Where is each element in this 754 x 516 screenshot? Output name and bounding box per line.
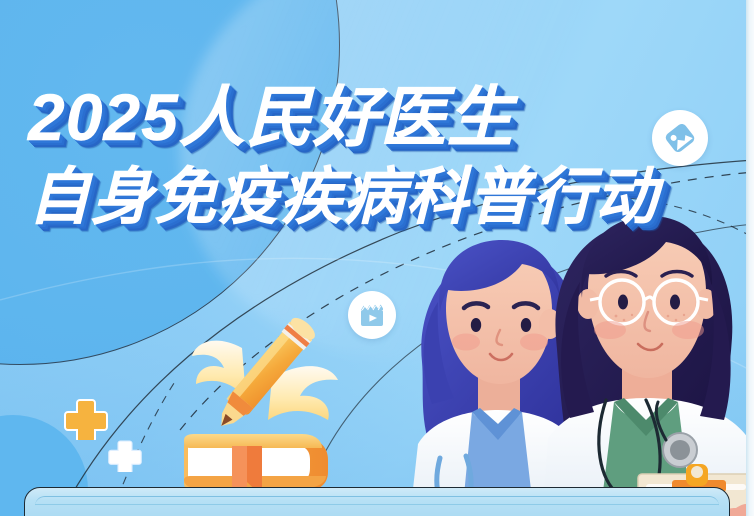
image-icon [663, 121, 697, 155]
pencil-book-illustration [150, 300, 360, 516]
plus-decor-white [108, 438, 142, 472]
doctor-glasses [542, 216, 754, 516]
video-clapperboard-icon [357, 300, 387, 330]
bottom-panel [24, 487, 730, 516]
bottom-panel-line-2 [35, 504, 719, 516]
photo-badge[interactable] [652, 110, 708, 166]
plus-icon [64, 396, 108, 440]
title-line-2: 自身免疫疾病科普行动 [28, 166, 658, 230]
plus-icon [108, 438, 142, 472]
doctor-illustration [410, 212, 754, 516]
poster-title: 2025人民好医生 自身免疫疾病科普行动 [28, 84, 658, 230]
video-badge[interactable] [348, 291, 396, 339]
title-line-1: 2025人民好医生 [28, 84, 658, 152]
poster-banner: 2025人民好医生 自身免疫疾病科普行动 [0, 0, 754, 516]
plus-decor-orange [64, 396, 108, 440]
right-edge-strip [746, 0, 754, 516]
